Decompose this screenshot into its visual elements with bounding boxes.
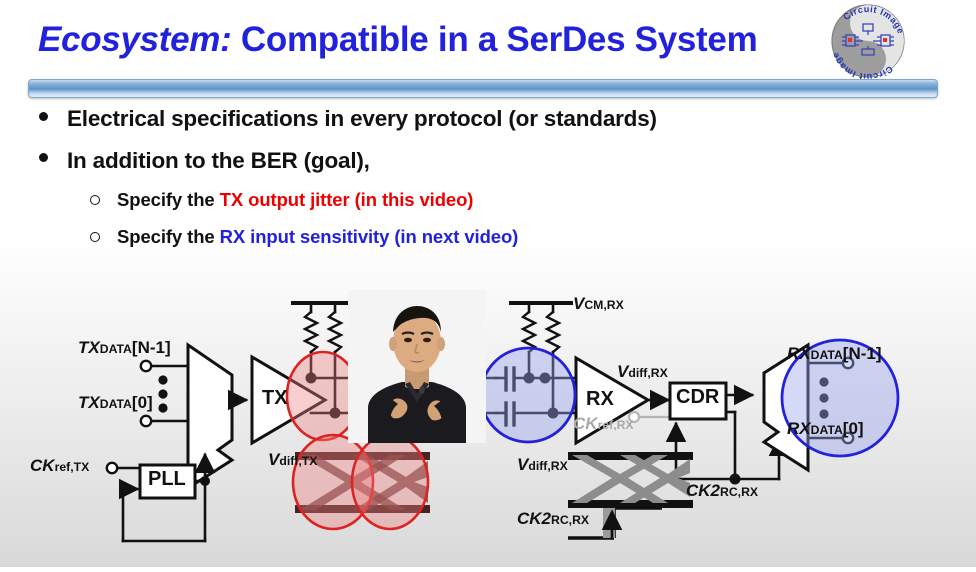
label-rx-amp: RX [586, 388, 614, 411]
label-cdr: CDR [676, 386, 719, 409]
rx-eye-diagram [568, 452, 693, 508]
serdes-block-diagram [0, 0, 976, 567]
label-tx-amp: TX [262, 387, 288, 410]
label-txdata-msb: TXDATA[N-1] [78, 338, 171, 358]
tx-eye-highlight-right [352, 435, 428, 529]
label-ck2-rc-rx-left: CK2RC,RX [517, 509, 589, 529]
label-rxdata-msb: RXDATA[N-1] [787, 344, 882, 364]
rx-node-highlight [481, 348, 575, 442]
label-pll: PLL [148, 468, 186, 491]
label-vdiff-rx: Vdiff,RX [617, 362, 668, 382]
label-vcm-rx: VCM,RX [573, 294, 624, 314]
presenter-video-overlay [348, 290, 486, 443]
label-vdiff-rx-eye: Vdiff,RX [517, 455, 568, 475]
label-rxdata-lsb: RXDATA[0] [787, 419, 864, 439]
label-txdata-lsb: TXDATA[0] [78, 393, 153, 413]
label-vdiff-tx: Vdiff,TX [268, 450, 317, 470]
label-ckref-rx: CKref,RX [573, 414, 634, 434]
slide-root: Ecosystem: Compatible in a SerDes System [0, 0, 976, 567]
label-ck2-rc-rx-right: CK2RC,RX [686, 481, 758, 501]
label-ckref-tx: CKref,TX [30, 456, 89, 476]
